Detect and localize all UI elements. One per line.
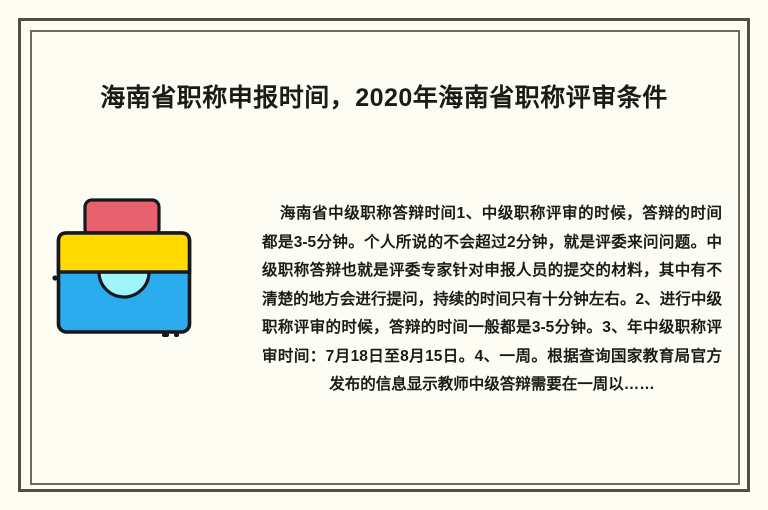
accent-dash-icon (162, 333, 169, 337)
front-flap-shape (59, 233, 190, 272)
accent-dot-icon (52, 275, 57, 280)
article-body: 海南省中级职称答辩时间1、中级职称评审的时候，答辩的时间都是3-5分钟。个人所说… (262, 200, 722, 400)
page-title: 海南省职称申报时间，2020年海南省职称评审条件 (0, 78, 768, 118)
accent-dash-icon (174, 333, 179, 337)
handle-shape (85, 200, 159, 236)
page-root: 海南省职称申报时间，2020年海南省职称评审条件 海南省中级职称答辩时间1、中级… (0, 0, 768, 510)
toolbox-briefcase-illustration (52, 194, 196, 344)
